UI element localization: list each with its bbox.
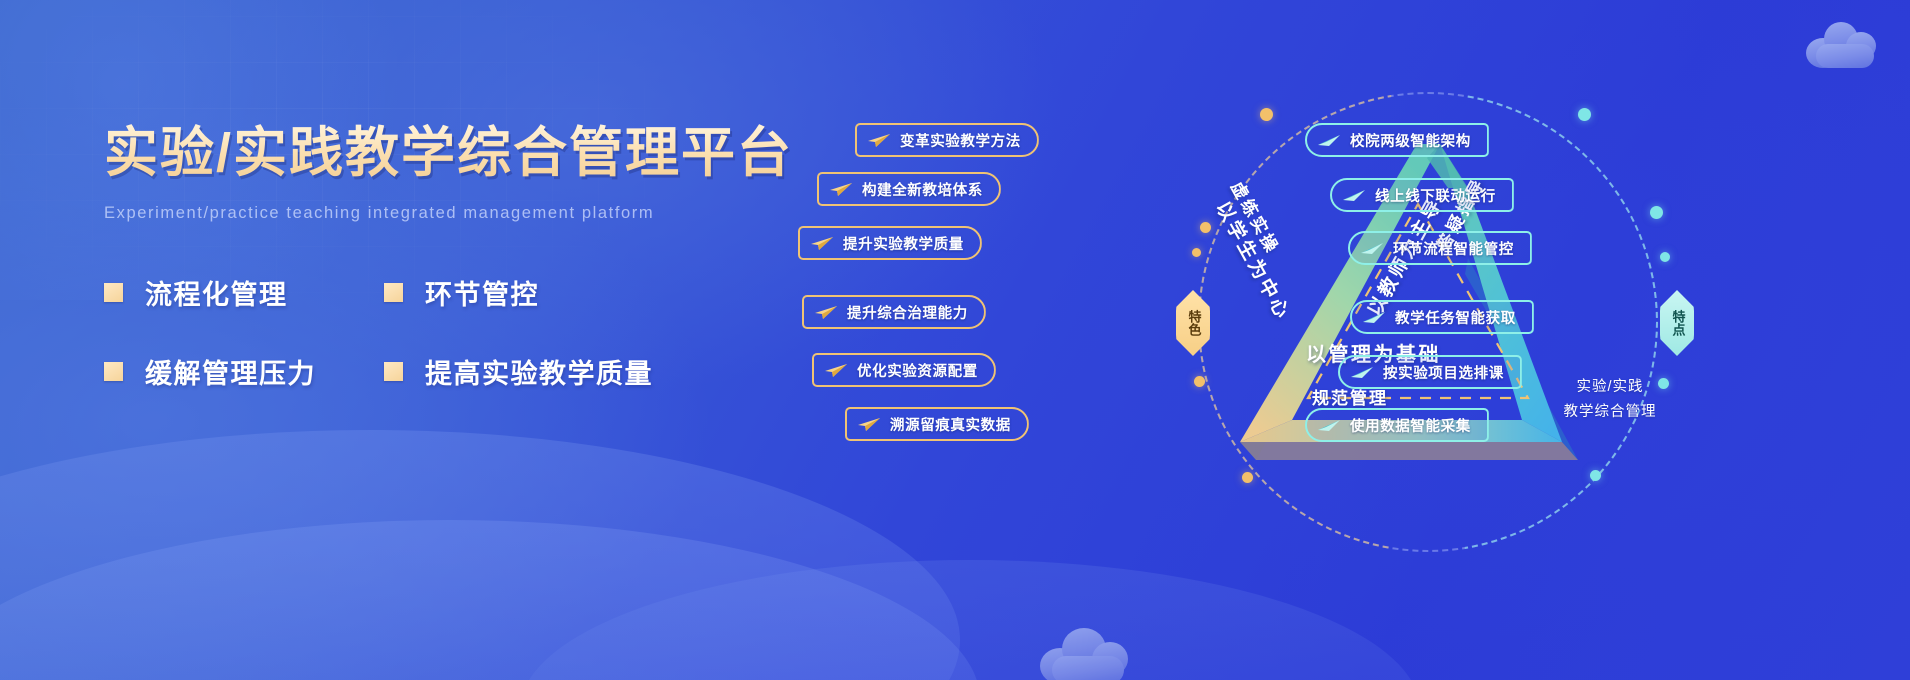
tag-label: 校院两级智能架构 <box>1350 130 1471 151</box>
diagram-area: 实验/实践 教学综合管理 以学生为中心 以教师为主导 以管理为基础 虚练实操 答… <box>960 0 1910 680</box>
ring-dot-cyan <box>1578 108 1591 121</box>
badge-label: 特点 <box>1670 310 1685 336</box>
tag-right-1[interactable]: 校院两级智能架构 <box>1305 123 1489 157</box>
tag-label: 环节流程智能管控 <box>1393 238 1514 259</box>
tag-label: 溯源留痕真实数据 <box>890 414 1011 435</box>
tag-right-6[interactable]: 使用数据智能采集 <box>1305 408 1489 442</box>
ring-dot-gold <box>1192 248 1201 257</box>
tag-right-5[interactable]: 按实验项目选排课 <box>1338 355 1522 389</box>
tag-right-2[interactable]: 线上线下联动运行 <box>1330 178 1514 212</box>
ring-dot-cyan <box>1660 252 1670 262</box>
feature-label: 提高实验教学质量 <box>425 352 653 391</box>
tag-label: 使用数据智能采集 <box>1350 415 1471 436</box>
paper-plane-icon <box>829 181 853 197</box>
tag-label: 提升实验教学质量 <box>843 233 964 254</box>
ring-dot-gold <box>1194 376 1205 387</box>
badge-tedian: 特点 <box>1660 290 1694 356</box>
paper-plane-icon <box>814 304 838 320</box>
badge-tese: 特色 <box>1176 290 1210 356</box>
feature-label: 环节管控 <box>425 273 539 312</box>
page-title: 实验/实践教学综合管理平台 <box>104 122 824 186</box>
tag-label: 教学任务智能获取 <box>1395 307 1516 328</box>
bullet-square-icon <box>104 362 123 381</box>
page-subtitle: Experiment/practice teaching integrated … <box>104 204 824 223</box>
background-wave-2 <box>0 520 980 680</box>
bullet-square-icon <box>384 283 403 302</box>
ring-dot-gold <box>1200 222 1211 233</box>
paper-plane-icon <box>857 416 881 432</box>
banner-root: 实验/实践教学综合管理平台 Experiment/practice teachi… <box>0 0 1910 680</box>
feature-label: 流程化管理 <box>145 273 288 312</box>
tag-label: 优化实验资源配置 <box>857 360 978 381</box>
ring-dot-gold <box>1260 108 1273 121</box>
background-wave-1 <box>0 430 960 680</box>
paper-plane-icon <box>1362 309 1386 325</box>
tag-label: 变革实验教学方法 <box>900 130 1021 151</box>
headline-block: 实验/实践教学综合管理平台 Experiment/practice teachi… <box>104 122 824 391</box>
tag-left-2[interactable]: 构建全新教培体系 <box>817 172 1001 206</box>
feature-item: 流程化管理 <box>104 273 384 312</box>
paper-plane-icon <box>1360 240 1384 256</box>
paper-plane-icon <box>1342 187 1366 203</box>
paper-plane-icon <box>867 132 891 148</box>
bullet-square-icon <box>384 362 403 381</box>
tag-left-4[interactable]: 提升综合治理能力 <box>802 295 986 329</box>
tag-left-5[interactable]: 优化实验资源配置 <box>812 353 996 387</box>
feature-item: 环节管控 <box>384 273 824 312</box>
feature-label: 缓解管理压力 <box>145 352 316 391</box>
badge-label: 特色 <box>1186 310 1201 336</box>
tag-left-6[interactable]: 溯源留痕真实数据 <box>845 407 1029 441</box>
tag-label: 按实验项目选排课 <box>1383 362 1504 383</box>
center-line-1: 实验/实践 <box>1510 375 1710 400</box>
tag-label: 线上线下联动运行 <box>1375 185 1496 206</box>
tag-right-3[interactable]: 环节流程智能管控 <box>1348 231 1532 265</box>
tag-left-1[interactable]: 变革实验教学方法 <box>855 123 1039 157</box>
paper-plane-icon <box>1317 132 1341 148</box>
feature-item: 提高实验教学质量 <box>384 352 824 391</box>
triangle-center-text: 实验/实践 教学综合管理 <box>1510 375 1710 426</box>
feature-list: 流程化管理 环节管控 缓解管理压力 提高实验教学质量 <box>104 273 824 391</box>
tag-label: 构建全新教培体系 <box>862 179 983 200</box>
ring-dot-cyan <box>1650 206 1663 219</box>
paper-plane-icon <box>810 235 834 251</box>
paper-plane-icon <box>1317 417 1341 433</box>
center-line-2: 教学综合管理 <box>1510 400 1710 425</box>
tag-right-4[interactable]: 教学任务智能获取 <box>1350 300 1534 334</box>
feature-item: 缓解管理压力 <box>104 352 384 391</box>
bullet-square-icon <box>104 283 123 302</box>
paper-plane-icon <box>1350 364 1374 380</box>
paper-plane-icon <box>824 362 848 378</box>
tag-left-3[interactable]: 提升实验教学质量 <box>798 226 982 260</box>
tag-label: 提升综合治理能力 <box>847 302 968 323</box>
